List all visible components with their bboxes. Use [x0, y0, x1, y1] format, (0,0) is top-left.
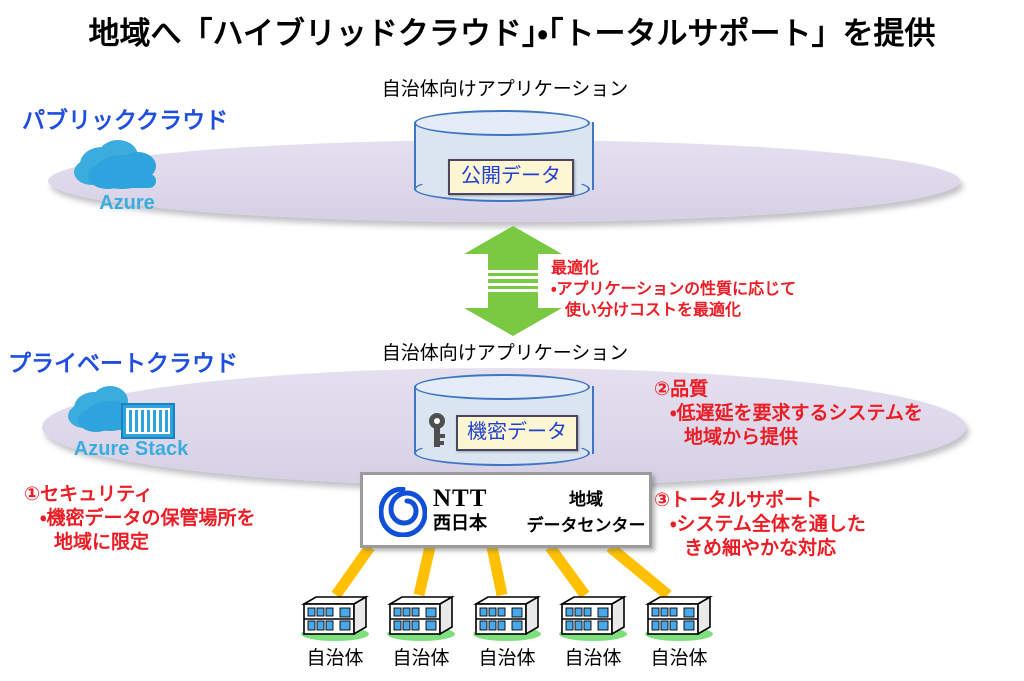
- support-annotation-head: ③トータルサポート: [654, 489, 866, 513]
- municipality-item[interactable]: 自治体: [550, 588, 636, 670]
- azure-stack-wordmark: Azure Stack: [56, 438, 206, 461]
- security-annotation-line2: 地域に限定: [24, 531, 255, 555]
- municipality-label: 自治体: [636, 643, 722, 670]
- datacenter-name-line2: データセンター: [523, 513, 649, 539]
- private-cloud-app-title: 自治体向けアプリケーション: [340, 338, 670, 365]
- azure-stack-icon: [56, 382, 206, 442]
- datacenter-name: 地域 データセンター: [523, 487, 649, 538]
- azure-wordmark: Azure: [62, 192, 192, 215]
- municipality-label: 自治体: [292, 643, 378, 670]
- government-building-icon: [636, 588, 722, 642]
- municipality-item[interactable]: 自治体: [636, 588, 722, 670]
- optimize-annotation: 最適化 ・アプリケーションの性質に応じて 使い分けコストを最適化: [551, 259, 796, 321]
- security-annotation: ①セキュリティ ・機密データの保管場所を 地域に限定: [24, 483, 255, 555]
- optimize-annotation-head: 最適化: [551, 259, 796, 280]
- government-building-icon: [550, 588, 636, 642]
- server-rack-icon: [122, 404, 174, 438]
- public-data-chip: 公開データ: [448, 159, 574, 195]
- quality-annotation-head: ②品質: [654, 378, 923, 402]
- cylinder-top: [414, 374, 590, 400]
- diagram-canvas: 地域へ「ハイブリッドクラウド」・「トータルサポート」を提供 パブリッククラウド …: [0, 0, 1024, 681]
- security-annotation-line1: ・機密データの保管場所を: [24, 507, 255, 531]
- private-cloud-label: プライベートクラウド: [8, 344, 238, 378]
- municipality-item[interactable]: 自治体: [464, 588, 550, 670]
- optimize-annotation-line2: 使い分けコストを最適化: [551, 301, 796, 322]
- public-cloud-label: パブリッククラウド: [22, 101, 228, 135]
- optimize-annotation-line1: ・アプリケーションの性質に応じて: [551, 280, 796, 301]
- quality-annotation-line1: ・低遅延を要求するシステムを: [654, 402, 923, 426]
- azure-stack-logo: Azure Stack: [56, 382, 206, 466]
- secret-data-chip: 機密データ: [456, 415, 578, 451]
- ntt-wordmark: NTT 西日本: [433, 485, 523, 533]
- key-icon: [424, 412, 450, 448]
- cylinder-top: [414, 110, 590, 136]
- municipality-row: 自治体 自治体: [292, 588, 722, 680]
- azure-logo: Azure: [62, 136, 192, 220]
- regional-datacenter-box[interactable]: NTT 西日本 地域 データセンター: [360, 472, 652, 548]
- quality-annotation: ②品質 ・低遅延を要求するシステムを 地域から提供: [654, 378, 923, 450]
- datacenter-name-line1: 地域: [523, 487, 649, 513]
- support-annotation-line1: ・システム全体を通した: [654, 513, 866, 537]
- municipality-item[interactable]: 自治体: [292, 588, 378, 670]
- government-building-icon: [292, 588, 378, 642]
- public-cloud-app-title: 自治体向けアプリケーション: [340, 74, 670, 101]
- ntt-logo-icon: [379, 487, 427, 537]
- municipality-label: 自治体: [550, 643, 636, 670]
- page-title: 地域へ「ハイブリッドクラウド」・「トータルサポート」を提供: [0, 8, 1024, 53]
- ntt-company-latin: NTT: [433, 485, 523, 513]
- municipality-item[interactable]: 自治体: [378, 588, 464, 670]
- azure-cloud-icon: [62, 136, 192, 196]
- ntt-company-ja: 西日本: [433, 513, 523, 533]
- government-building-icon: [378, 588, 464, 642]
- government-building-icon: [464, 588, 550, 642]
- municipality-label: 自治体: [378, 643, 464, 670]
- quality-annotation-line2: 地域から提供: [654, 426, 923, 450]
- security-annotation-head: ①セキュリティ: [24, 483, 255, 507]
- municipality-label: 自治体: [464, 643, 550, 670]
